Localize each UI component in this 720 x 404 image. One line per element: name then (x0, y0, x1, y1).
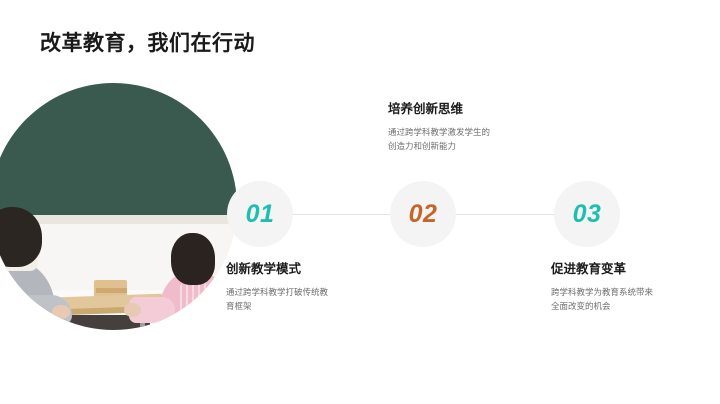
slide-root: 改革教育，我们在行动 01 (0, 0, 720, 404)
timeline-step-1-description-line2: 育框架 (226, 299, 376, 313)
timeline-connector-1-2 (293, 214, 393, 215)
timeline-step-3-text: 促进教育变革 跨学科教学为教育系统带来 全面改变的机会 (551, 261, 701, 313)
timeline-step-1-description: 通过跨学科教学打破传统教 育框架 (226, 285, 376, 313)
timeline-step-2-circle[interactable]: 02 (390, 181, 456, 247)
timeline: 01 02 03 创新教学模式 通过跨学科教学打破传统教 育框架 培养创新思维 … (0, 0, 720, 404)
timeline-step-3-number: 03 (573, 200, 602, 229)
timeline-step-2-description-line2: 创造力和创新能力 (388, 139, 538, 153)
timeline-connector-2-3 (456, 214, 554, 215)
timeline-step-3-heading: 促进教育变革 (551, 261, 701, 277)
timeline-step-1-description-line1: 通过跨学科教学打破传统教 (226, 285, 376, 299)
timeline-step-1-text: 创新教学模式 通过跨学科教学打破传统教 育框架 (226, 261, 376, 313)
timeline-step-3-description-line2: 全面改变的机会 (551, 299, 701, 313)
timeline-step-2-number: 02 (409, 200, 438, 229)
timeline-step-1-circle[interactable]: 01 (227, 181, 293, 247)
timeline-step-3-description-line1: 跨学科教学为教育系统带来 (551, 285, 701, 299)
timeline-step-3-description: 跨学科教学为教育系统带来 全面改变的机会 (551, 285, 701, 313)
timeline-step-2-description: 通过跨学科教学激发学生的 创造力和创新能力 (388, 125, 538, 153)
timeline-step-2-description-line1: 通过跨学科教学激发学生的 (388, 125, 538, 139)
timeline-step-1-heading: 创新教学模式 (226, 261, 376, 277)
timeline-step-1-number: 01 (246, 200, 275, 229)
timeline-step-2-heading: 培养创新思维 (388, 101, 538, 117)
timeline-step-2-text: 培养创新思维 通过跨学科教学激发学生的 创造力和创新能力 (388, 101, 538, 153)
timeline-step-3-circle[interactable]: 03 (554, 181, 620, 247)
